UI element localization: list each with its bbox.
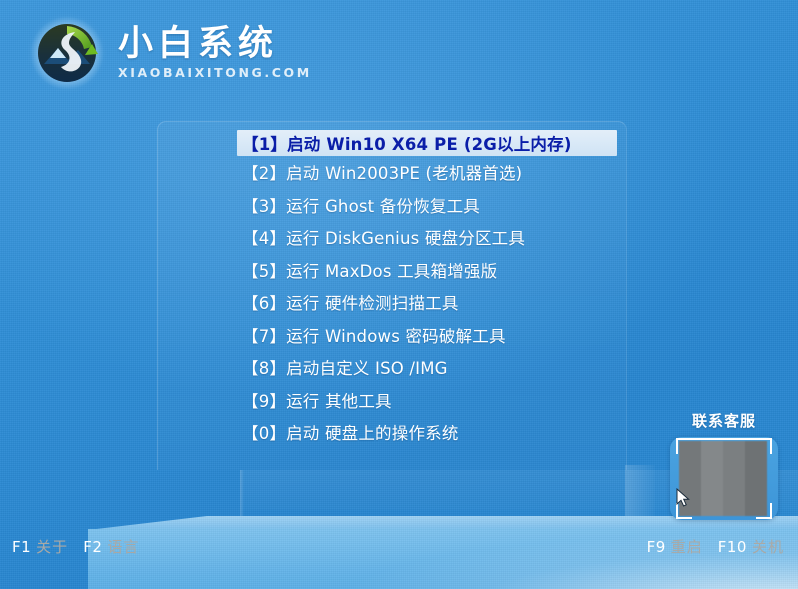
qr-code-image xyxy=(679,441,767,516)
menu-item-hardware-scan[interactable]: 【6】运行 硬件检测扫描工具 xyxy=(158,286,626,319)
menu-item-boot-hdd[interactable]: 【0】启动 硬盘上的操作系统 xyxy=(158,416,626,449)
menu-item-maxdos[interactable]: 【5】运行 MaxDos 工具箱增强版 xyxy=(158,254,626,287)
menu-item-diskgenius[interactable]: 【4】运行 DiskGenius 硬盘分区工具 xyxy=(158,221,626,254)
stage-left-edge xyxy=(240,470,244,518)
fkey-f9-label: 重启 xyxy=(671,536,703,557)
contact-support-card[interactable]: 联系客服 xyxy=(668,410,780,520)
qr-corner-bottom-right-icon xyxy=(756,503,772,519)
menu-item-ghost[interactable]: 【3】运行 Ghost 备份恢复工具 xyxy=(158,189,626,222)
fkey-f2-label: 语言 xyxy=(107,536,139,557)
fkey-f9-key: F9 xyxy=(647,538,666,556)
fkey-f1-key: F1 xyxy=(12,538,31,556)
boot-menu-screen: 小白系统 XIAOBAIXITONG.COM 【1】启动 Win10 X64 P… xyxy=(0,0,798,589)
fkey-f10-shutdown[interactable]: F10 关机 xyxy=(718,536,784,557)
boot-menu-panel: 【1】启动 Win10 X64 PE (2G以上内存) 【2】启动 Win200… xyxy=(157,121,627,470)
recycle-circle-logo-icon xyxy=(28,14,106,92)
brand-logo: 小白系统 XIAOBAIXITONG.COM xyxy=(28,14,312,92)
fkey-f1-about[interactable]: F1 关于 xyxy=(12,536,68,557)
fkey-f1-label: 关于 xyxy=(36,536,68,557)
menu-item-custom-iso[interactable]: 【8】启动自定义 ISO /IMG xyxy=(158,351,626,384)
fkey-f10-label: 关机 xyxy=(752,536,784,557)
qr-corner-top-right-icon xyxy=(756,438,772,454)
fkey-f2-language[interactable]: F2 语言 xyxy=(83,536,139,557)
brand-name: 小白系统 xyxy=(118,26,312,63)
menu-item-password-crack[interactable]: 【7】运行 Windows 密码破解工具 xyxy=(158,319,626,352)
fkey-f9-restart[interactable]: F9 重启 xyxy=(647,536,703,557)
menu-item-other-tools[interactable]: 【9】运行 其他工具 xyxy=(158,384,626,417)
menu-item-win10-x64-pe[interactable]: 【1】启动 Win10 X64 PE (2G以上内存) xyxy=(237,130,617,156)
function-keys-left: F1 关于 F2 语言 xyxy=(12,536,139,557)
brand-text: 小白系统 XIAOBAIXITONG.COM xyxy=(118,26,312,80)
contact-support-title: 联系客服 xyxy=(668,410,780,431)
qr-corner-top-left-icon xyxy=(676,438,692,454)
menu-item-win2003-pe[interactable]: 【2】启动 Win2003PE (老机器首选) xyxy=(158,156,626,189)
brand-domain: XIAOBAIXITONG.COM xyxy=(118,65,312,80)
stage-right-edge xyxy=(625,465,655,520)
fkey-f10-key: F10 xyxy=(718,538,747,556)
function-keys-right: F9 重启 F10 关机 xyxy=(647,536,784,557)
fkey-f2-key: F2 xyxy=(83,538,102,556)
qr-code-frame[interactable] xyxy=(670,437,778,520)
qr-corner-bottom-left-icon xyxy=(676,503,692,519)
